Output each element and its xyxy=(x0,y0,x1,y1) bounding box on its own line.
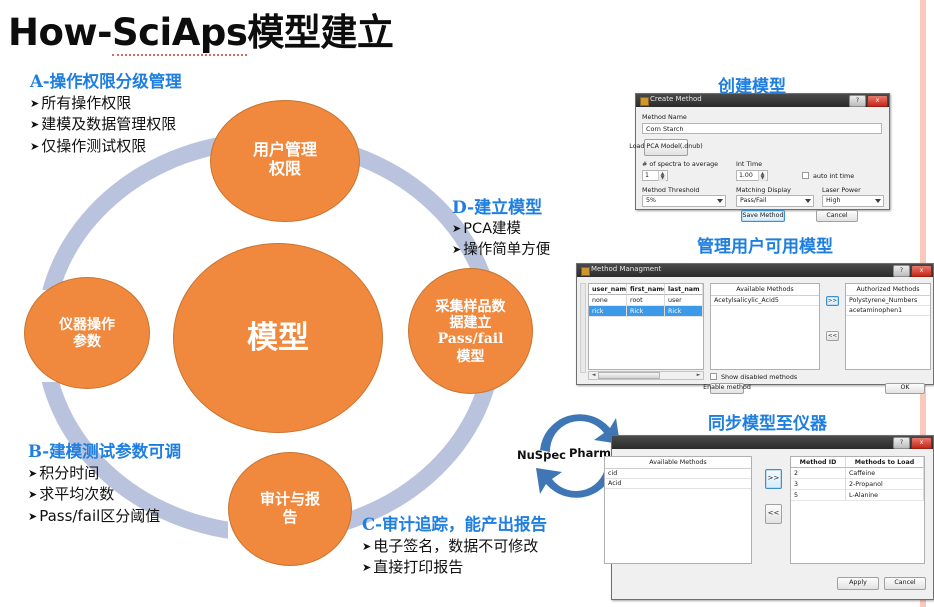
annotation-b-item-1: 积分时间 xyxy=(28,463,181,484)
save-method-button[interactable]: Save Method xyxy=(741,210,785,222)
list-item[interactable]: Polystyrene_Numbers xyxy=(846,296,930,306)
annotation-b-item-2: 求平均次数 xyxy=(28,484,181,505)
scroll-left-icon[interactable]: ◄ xyxy=(589,372,598,379)
int-time-stepper[interactable]: 1.00 ▲▼ xyxy=(736,170,768,181)
cell-method-name: Caffeine xyxy=(846,468,924,479)
close-icon[interactable]: x xyxy=(867,95,888,107)
sync-methods-titlebar[interactable]: ? x xyxy=(612,436,933,449)
bubble-user-management-line-2: 权限 xyxy=(253,161,317,180)
annotation-d-item-1: PCA建模 xyxy=(452,219,550,240)
list-item[interactable]: Acid xyxy=(605,479,751,489)
list-item[interactable]: Acetylsalicylic_Acid5 xyxy=(711,296,819,306)
annotation-d: D-建立模型 PCA建模 操作简单方便 xyxy=(452,193,550,260)
stepper-arrows-icon[interactable]: ▲▼ xyxy=(658,171,666,181)
available-methods-header: Available Methods xyxy=(711,284,819,296)
scrollbar-thumb[interactable] xyxy=(598,372,660,379)
cell-first-name: Rick xyxy=(627,306,665,317)
chevron-down-icon xyxy=(805,199,811,203)
methods-to-load-header: Method ID Methods to Load xyxy=(791,457,924,468)
bubble-sample-model-line-2: 据建立 xyxy=(436,314,506,331)
page-title-text: How-SciAps模型建立 xyxy=(8,11,393,56)
method-threshold-select[interactable]: 5% xyxy=(642,195,726,207)
annotation-c: C-审计追踪，能产出报告 电子签名，数据不可修改 直接打印报告 xyxy=(362,511,547,579)
users-table[interactable]: user_name first_name last_nam none root … xyxy=(588,283,704,370)
annotation-d-heading: D-建立模型 xyxy=(452,193,550,218)
cell-last-name: Rick xyxy=(665,306,703,317)
chevron-down-icon xyxy=(875,199,881,203)
scroll-right-icon[interactable]: ► xyxy=(694,372,703,379)
annotation-c-heading: C-审计追踪，能产出报告 xyxy=(362,511,547,535)
column-method-id: Method ID xyxy=(791,457,846,468)
annotation-a-heading: A-操作权限分级管理 xyxy=(30,68,182,92)
caption-sync-to-instrument: 同步模型至仪器 xyxy=(708,409,827,434)
close-icon[interactable]: x xyxy=(911,437,932,449)
cell-method-id: 2 xyxy=(791,468,846,479)
spectra-average-stepper[interactable]: 1 ▲▼ xyxy=(642,170,668,181)
bubble-sample-model-line-3: Pass/fail xyxy=(436,331,506,348)
laser-power-label: Laser Power xyxy=(822,186,861,194)
table-row[interactable]: none root user xyxy=(589,295,703,306)
int-time-label: Int Time xyxy=(736,160,762,168)
annotation-b: B-建模测试参数可调 积分时间 求平均次数 Pass/fail区分阈值 xyxy=(28,438,181,527)
annotation-b-item-3: Pass/fail区分阈值 xyxy=(28,506,181,527)
bubble-audit-report-line-2: 告 xyxy=(260,509,320,527)
annotation-c-item-1: 电子签名，数据不可修改 xyxy=(362,536,547,557)
users-table-header: user_name first_name last_nam xyxy=(589,284,703,295)
method-threshold-label: Method Threshold xyxy=(642,186,700,194)
bubble-instrument-params-line-2: 参数 xyxy=(59,333,115,350)
sync-available-methods-header: Available Methods xyxy=(605,457,751,469)
authorized-methods-header: Authorized Methods xyxy=(846,284,930,296)
enable-method-button[interactable]: Enable method xyxy=(710,383,744,394)
matching-display-select[interactable]: Pass/Fail xyxy=(736,195,814,207)
annotation-b-heading: B-建模测试参数可调 xyxy=(28,438,181,462)
column-first-name: first_name xyxy=(627,284,665,295)
sync-methods-window: ? x Available Methods cid Acid >> << Met… xyxy=(611,435,934,600)
annotation-d-item-2: 操作简单方便 xyxy=(452,240,550,261)
method-management-window-buttons: ? x xyxy=(893,265,932,277)
bubble-sample-model: 采集样品数 据建立 Pass/fail 模型 xyxy=(408,268,533,394)
method-name-input[interactable]: Corn Starch xyxy=(642,123,882,134)
help-button[interactable]: ? xyxy=(893,437,910,449)
cancel-button[interactable]: Cancel xyxy=(884,577,926,590)
cell-last-name: user xyxy=(665,295,703,306)
cell-method-id: 5 xyxy=(791,490,846,501)
auto-int-time-label: auto int time xyxy=(813,172,854,180)
cell-method-id: 3 xyxy=(791,479,846,490)
sync-available-methods-list[interactable]: Available Methods cid Acid xyxy=(604,456,752,564)
annotation-a-item-2: 建模及数据管理权限 xyxy=(30,114,182,135)
sync-remove-button[interactable]: << xyxy=(765,504,782,524)
chevron-down-icon xyxy=(717,199,723,203)
create-method-window: Create Method ? x Method Name Corn Starc… xyxy=(635,93,890,210)
bubble-sample-model-line-4: 模型 xyxy=(436,348,506,365)
spectra-average-label: # of spectra to average xyxy=(642,160,718,168)
load-pca-model-button[interactable]: Load PCA Model(.dnub) xyxy=(644,139,688,156)
methods-to-load-table[interactable]: Method ID Methods to Load 2 Caffeine 3 2… xyxy=(790,456,925,564)
method-threshold-value: 5% xyxy=(646,197,656,204)
annotation-a-item-1: 所有操作权限 xyxy=(30,93,182,114)
cell-user-name: rick xyxy=(589,306,627,317)
bubble-instrument-params: 仪器操作 参数 xyxy=(24,277,150,389)
users-table-hscrollbar[interactable]: ◄ ► xyxy=(588,371,704,380)
left-scroll-strip[interactable] xyxy=(580,283,586,373)
create-method-title: Create Method xyxy=(650,95,702,103)
list-item[interactable]: cid xyxy=(605,469,751,479)
cell-method-name: 2-Propanol xyxy=(846,479,924,490)
app-icon xyxy=(640,97,649,106)
help-button[interactable]: ? xyxy=(893,265,910,277)
sync-add-button[interactable]: >> xyxy=(765,469,782,489)
bubble-audit-report-line-1: 审计与报 xyxy=(260,491,320,509)
table-row[interactable]: 3 2-Propanol xyxy=(791,479,924,490)
app-icon xyxy=(581,267,590,276)
auto-int-time-checkbox[interactable] xyxy=(802,172,809,179)
method-name-label: Method Name xyxy=(642,113,687,121)
bubble-sample-model-line-1: 采集样品数 xyxy=(436,298,506,315)
remove-method-button[interactable]: << xyxy=(826,331,839,341)
slide-canvas: How-SciAps模型建立 模型 用户管理 权限 采集样品数 据建立 Pass… xyxy=(0,0,934,607)
list-item[interactable]: acetaminophen1 xyxy=(846,306,930,316)
int-time-value: 1.00 xyxy=(739,172,753,179)
stepper-arrows-icon[interactable]: ▲▼ xyxy=(758,171,766,181)
bubble-model-label: 模型 xyxy=(247,320,309,357)
page-title: How-SciAps模型建立 xyxy=(8,2,393,56)
column-last-name: last_nam xyxy=(665,284,703,295)
sync-methods-window-buttons: ? x xyxy=(893,437,932,449)
annotation-a: A-操作权限分级管理 所有操作权限 建模及数据管理权限 仅操作测试权限 xyxy=(30,68,182,157)
cell-method-name: L-Alanine xyxy=(846,490,924,501)
column-user-name: user_name xyxy=(589,284,627,295)
table-row[interactable]: rick Rick Rick xyxy=(589,306,703,317)
method-management-title: Method Managment xyxy=(591,265,661,273)
table-row[interactable]: 2 Caffeine xyxy=(791,468,924,479)
create-method-titlebar[interactable]: Create Method ? x xyxy=(636,94,889,107)
cell-first-name: root xyxy=(627,295,665,306)
bubble-instrument-params-line-1: 仪器操作 xyxy=(59,316,115,333)
method-management-body: user_name first_name last_nam none root … xyxy=(577,277,933,384)
caption-manage-user-methods: 管理用户可用模型 xyxy=(697,232,833,257)
sync-methods-body: Available Methods cid Acid >> << Method … xyxy=(612,449,933,599)
method-management-titlebar[interactable]: Method Managment ? x xyxy=(577,264,933,277)
bubble-audit-report: 审计与报 告 xyxy=(228,452,352,566)
table-row[interactable]: 5 L-Alanine xyxy=(791,490,924,501)
label-nuspec: NuSpec xyxy=(517,448,566,462)
close-icon[interactable]: x xyxy=(911,265,932,277)
create-method-window-buttons: ? x xyxy=(849,95,888,107)
show-disabled-methods-checkbox[interactable] xyxy=(710,373,717,380)
laser-power-value: High xyxy=(826,197,840,204)
help-button[interactable]: ? xyxy=(849,95,866,107)
available-methods-list[interactable]: Available Methods Acetylsalicylic_Acid5 xyxy=(710,283,820,370)
spectra-average-value: 1 xyxy=(645,172,649,179)
ok-button[interactable]: OK xyxy=(885,383,925,394)
bubble-user-management: 用户管理 权限 xyxy=(210,100,360,222)
bubble-user-management-line-1: 用户管理 xyxy=(253,142,317,161)
create-method-body: Method Name Corn Starch Load PCA Model(.… xyxy=(636,107,889,209)
annotation-a-item-3: 仅操作测试权限 xyxy=(30,136,182,157)
annotation-c-item-2: 直接打印报告 xyxy=(362,557,547,578)
cell-user-name: none xyxy=(589,295,627,306)
method-management-window: Method Managment ? x user_name first_nam… xyxy=(576,263,934,385)
matching-display-value: Pass/Fail xyxy=(740,197,766,204)
bubble-model: 模型 xyxy=(173,243,383,433)
show-disabled-methods-label: Show disabled methods xyxy=(721,373,797,381)
laser-power-select[interactable]: High xyxy=(822,195,884,207)
column-methods-to-load: Methods to Load xyxy=(846,457,924,468)
authorized-methods-list[interactable]: Authorized Methods Polystyrene_Numbers a… xyxy=(845,283,931,370)
matching-display-label: Matching Display xyxy=(736,186,791,194)
cancel-button[interactable]: Cancel xyxy=(816,210,858,222)
apply-button[interactable]: Apply xyxy=(837,577,879,590)
add-method-button[interactable]: >> xyxy=(826,296,839,306)
